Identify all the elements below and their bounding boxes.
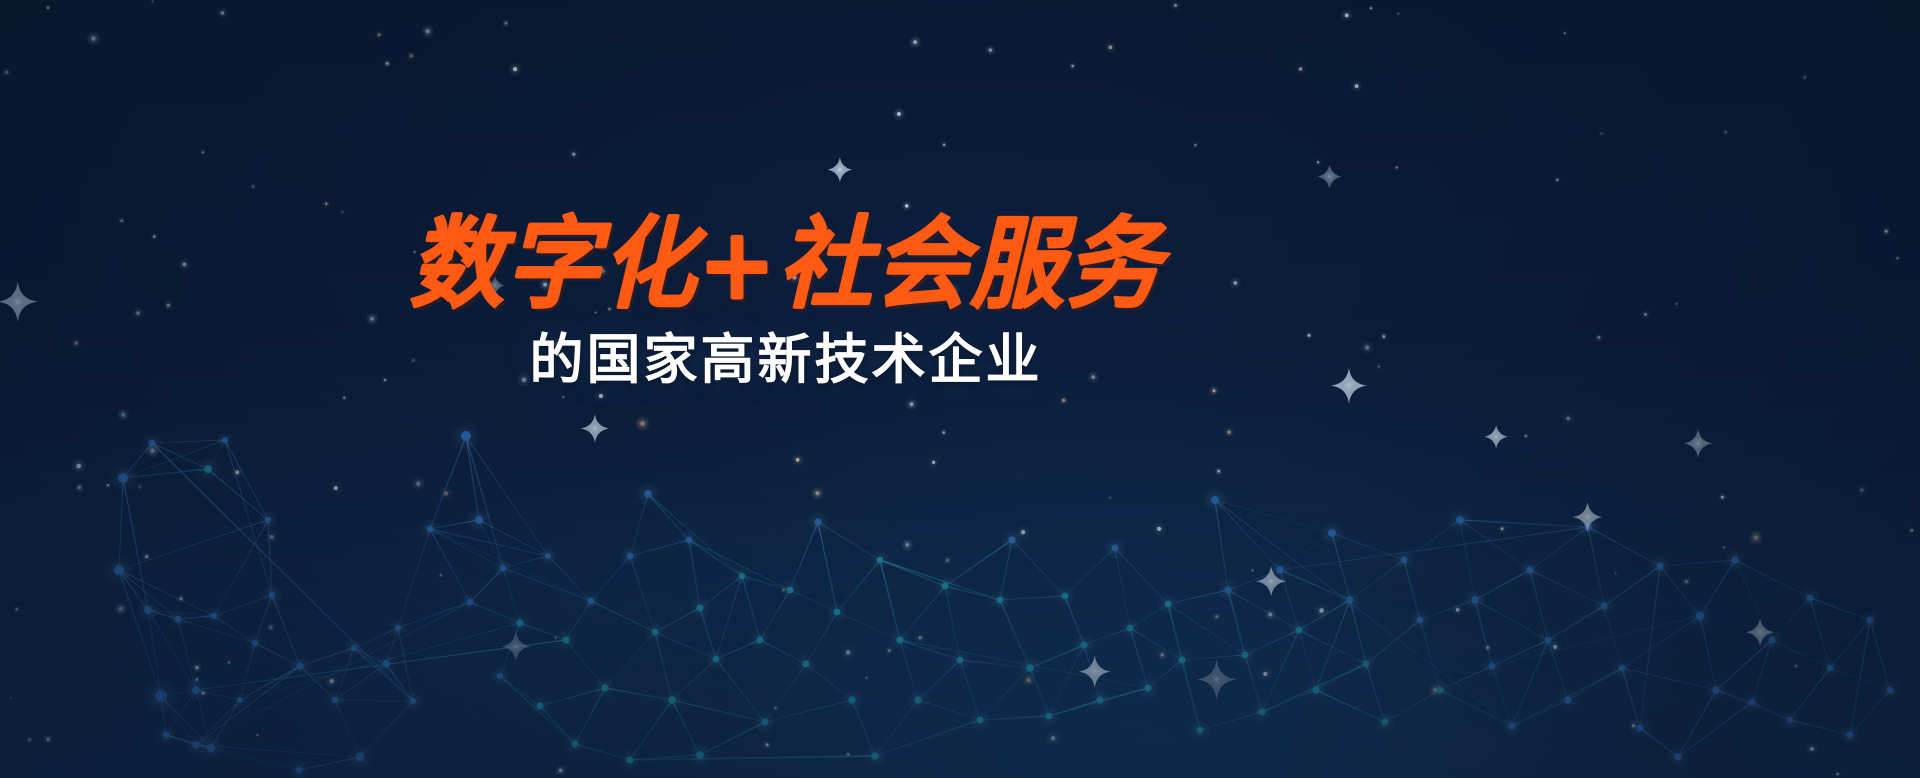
hero-banner: 数字化+社会服务 的国家高新技术企业 xyxy=(0,0,1920,778)
page-subtitle: 的国家高新技术企业 xyxy=(0,332,1572,386)
page-title: 数字化+社会服务 xyxy=(0,216,1572,316)
hero-headline-block: 数字化+社会服务 的国家高新技术企业 xyxy=(0,216,1572,386)
